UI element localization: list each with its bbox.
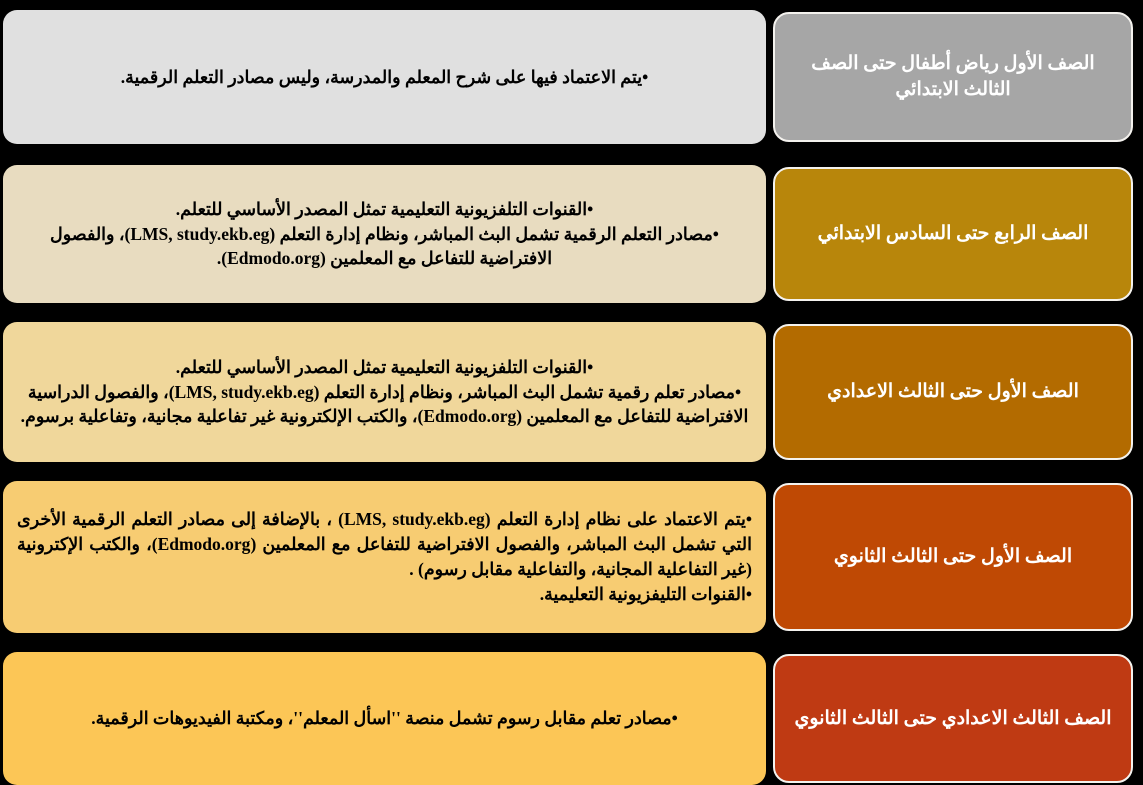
content-panel-4: •يتم الاعتماد على نظام إدارة التعلم (LMS… <box>3 481 766 633</box>
level-label-box-1[interactable]: الصف الأول رياض أطفال حتى الصف الثالث ال… <box>773 12 1133 142</box>
level-label-box-2[interactable]: الصف الرابع حتى السادس الابتدائي <box>773 167 1133 301</box>
bullet-item: •مصادر تعلم رقمية تشمل البث المباشر، ونظ… <box>17 380 752 430</box>
content-text-2: •القنوات التلفزيونية التعليمية تمثل المص… <box>17 197 752 272</box>
level-label-text-3: الصف الأول حتى الثالث الاعدادي <box>827 379 1079 405</box>
level-label-text-5: الصف الثالث الاعدادي حتى الثالث الثانوي <box>795 706 1112 732</box>
diagram-row-4: •يتم الاعتماد على نظام إدارة التعلم (LMS… <box>0 481 1143 633</box>
level-label-box-5[interactable]: الصف الثالث الاعدادي حتى الثالث الثانوي <box>773 654 1133 783</box>
diagram-row-1: •يتم الاعتماد فيها على شرح المعلم والمدر… <box>0 10 1143 144</box>
content-text-1: •يتم الاعتماد فيها على شرح المعلم والمدر… <box>17 65 752 90</box>
diagram-row-5: •مصادر تعلم مقابل رسوم تشمل منصة ''اسأل … <box>0 652 1143 785</box>
bullet-item: •مصادر تعلم مقابل رسوم تشمل منصة ''اسأل … <box>17 706 752 731</box>
level-label-text-4: الصف الأول حتى الثالث الثانوي <box>834 544 1072 570</box>
bullet-item: •القنوات التليفزيونية التعليمية. <box>17 582 752 607</box>
bullet-item: •القنوات التلفزيونية التعليمية تمثل المص… <box>17 355 752 380</box>
content-text-5: •مصادر تعلم مقابل رسوم تشمل منصة ''اسأل … <box>17 706 752 731</box>
content-panel-3: •القنوات التلفزيونية التعليمية تمثل المص… <box>3 322 766 462</box>
level-label-text-2: الصف الرابع حتى السادس الابتدائي <box>818 221 1089 247</box>
level-label-box-4[interactable]: الصف الأول حتى الثالث الثانوي <box>773 483 1133 631</box>
level-label-text-1: الصف الأول رياض أطفال حتى الصف الثالث ال… <box>793 51 1113 102</box>
bullet-item: •مصادر التعلم الرقمية تشمل البث المباشر،… <box>17 222 752 272</box>
diagram-row-2: •القنوات التلفزيونية التعليمية تمثل المص… <box>0 165 1143 303</box>
content-text-4: •يتم الاعتماد على نظام إدارة التعلم (LMS… <box>17 507 752 606</box>
content-panel-2: •القنوات التلفزيونية التعليمية تمثل المص… <box>3 165 766 303</box>
bullet-item: •يتم الاعتماد على نظام إدارة التعلم (LMS… <box>17 507 752 582</box>
bullet-item: •القنوات التلفزيونية التعليمية تمثل المص… <box>17 197 752 222</box>
content-panel-1: •يتم الاعتماد فيها على شرح المعلم والمدر… <box>3 10 766 144</box>
bullet-item: •يتم الاعتماد فيها على شرح المعلم والمدر… <box>17 65 752 90</box>
education-levels-diagram: •يتم الاعتماد فيها على شرح المعلم والمدر… <box>0 0 1143 785</box>
level-label-box-3[interactable]: الصف الأول حتى الثالث الاعدادي <box>773 324 1133 460</box>
diagram-row-3: •القنوات التلفزيونية التعليمية تمثل المص… <box>0 322 1143 462</box>
content-text-3: •القنوات التلفزيونية التعليمية تمثل المص… <box>17 355 752 430</box>
content-panel-5: •مصادر تعلم مقابل رسوم تشمل منصة ''اسأل … <box>3 652 766 785</box>
